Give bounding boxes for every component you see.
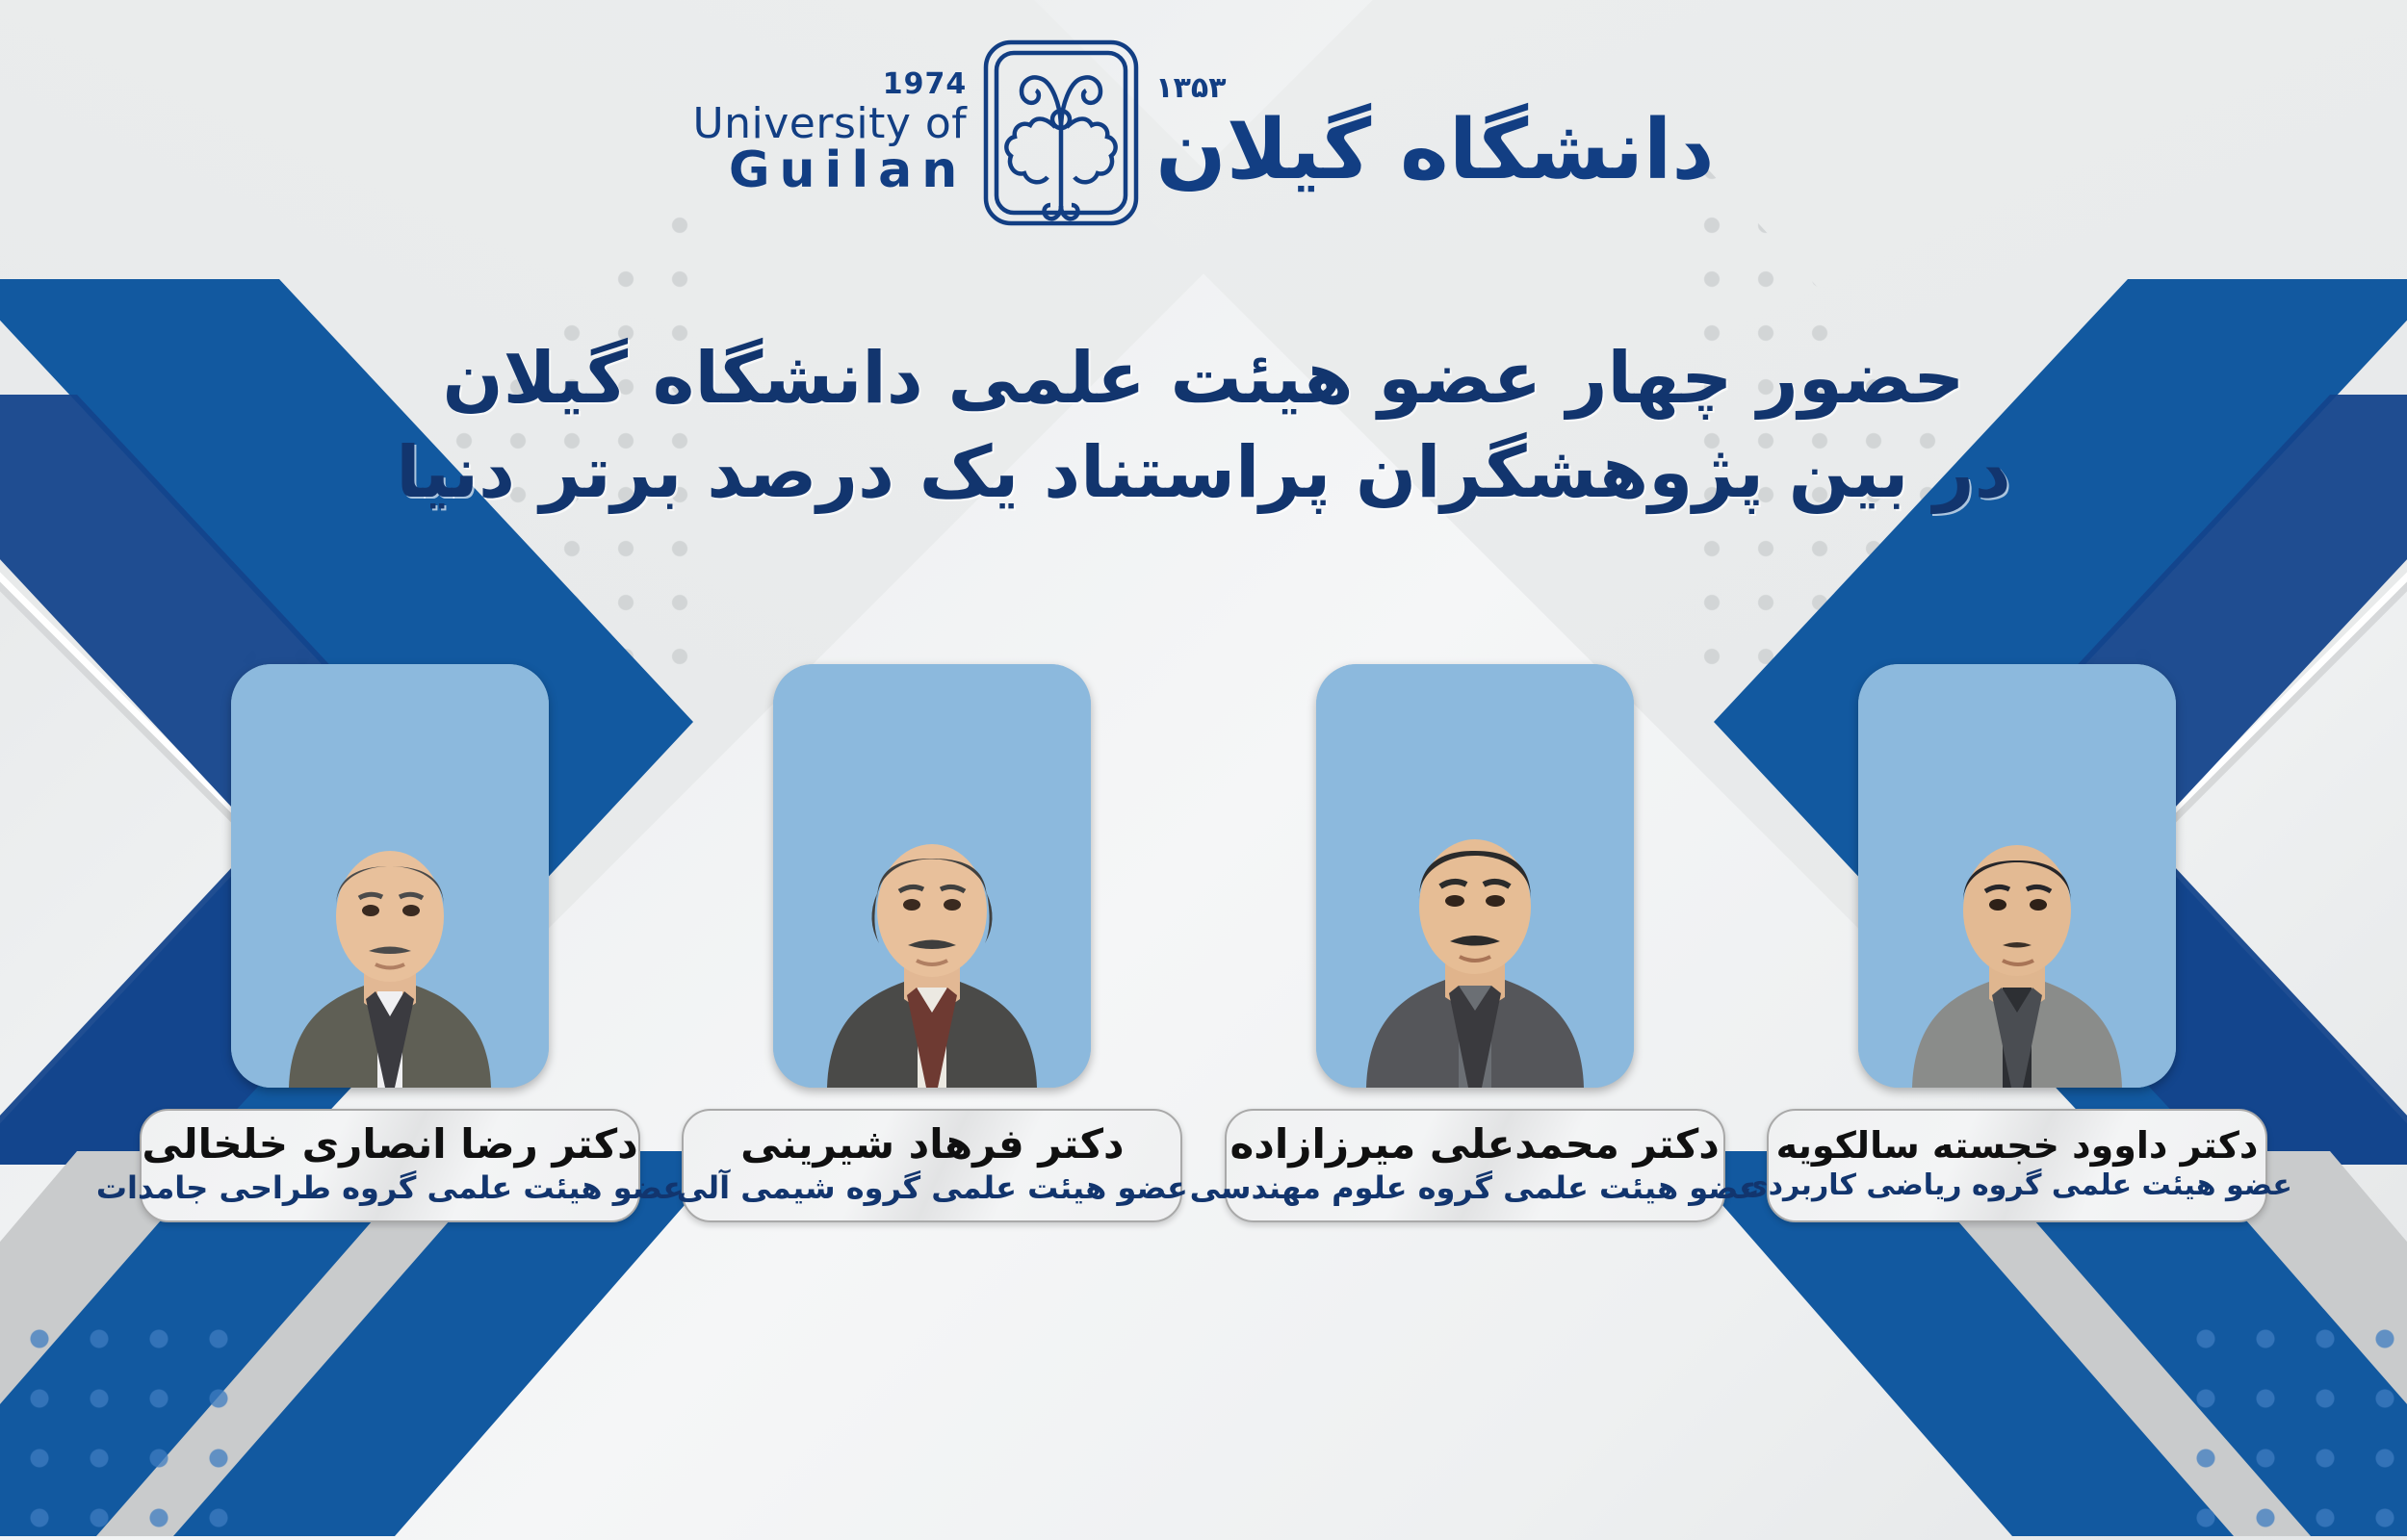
logo-line-university-of: University of <box>692 103 967 145</box>
researchers-row: دکتر رضا انصاری خلخالی عضو هیئت علمی گرو… <box>140 664 2267 1222</box>
researcher-card: دکتر رضا انصاری خلخالی عضو هیئت علمی گرو… <box>140 664 640 1222</box>
university-logo: 1974 University of Guilan <box>0 37 2407 229</box>
logo-english-text: 1974 University of Guilan <box>692 70 967 195</box>
headline: حضور چهار عضو هیئت علمی دانشگاه گیلان در… <box>385 332 2022 520</box>
headline-line-1: حضور چهار عضو هیئت علمی دانشگاه گیلان <box>385 332 2022 426</box>
headline-line-2: در بین پژوهشگران پراستناد یک درصد برتر د… <box>385 426 2022 521</box>
researcher-namecard: دکتر داوود خجسته سالکویه عضو هیئت علمی گ… <box>1767 1109 2267 1222</box>
researcher-card: دکتر داوود خجسته سالکویه عضو هیئت علمی گ… <box>1767 664 2267 1222</box>
researcher-card: دکتر محمدعلی میرزازاده عضو هیئت علمی گرو… <box>1225 664 1725 1222</box>
logo-year-solar: ۱۳۵۳ <box>1155 74 1714 103</box>
logo-name-persian: دانشگاه گیلان <box>1155 109 1714 192</box>
portrait-reza-ansari-khalkhali <box>231 664 549 1088</box>
researcher-name: دکتر داوود خجسته سالکویه <box>1776 1125 2259 1168</box>
researcher-card: دکتر فرهاد شیرینی عضو هیئت علمی گروه شیم… <box>682 664 1182 1222</box>
guilan-university-emblem-icon <box>980 37 1142 229</box>
dots-bottom-left <box>10 1309 231 1530</box>
logo-year-gregorian: 1974 <box>692 70 967 99</box>
researcher-department: عضو هیئت علمی گروه ریاضی کاربردی <box>1742 1169 2292 1203</box>
researcher-name: دکتر رضا انصاری خلخالی <box>142 1121 637 1168</box>
poster-canvas: 1974 University of Guilan <box>0 0 2407 1540</box>
researcher-department: عضو هیئت علمی گروه علوم مهندسی <box>1190 1170 1760 1206</box>
researcher-department: عضو هیئت علمی گروه شیمی آلی <box>677 1170 1188 1206</box>
portrait-mohammadali-mirzazadeh <box>1316 664 1634 1088</box>
portrait-davod-khojasteh-salkuyeh <box>1858 664 2176 1088</box>
researcher-name: دکتر محمدعلی میرزازاده <box>1230 1121 1720 1168</box>
logo-persian-text: ۱۳۵۳ دانشگاه گیلان <box>1155 74 1714 192</box>
researcher-namecard: دکتر فرهاد شیرینی عضو هیئت علمی گروه شیم… <box>682 1109 1182 1222</box>
researcher-name: دکتر فرهاد شیرینی <box>740 1121 1125 1168</box>
dots-bottom-right <box>2176 1309 2397 1530</box>
logo-line-guilan: Guilan <box>692 145 967 195</box>
researcher-namecard: دکتر رضا انصاری خلخالی عضو هیئت علمی گرو… <box>140 1109 640 1222</box>
researcher-namecard: دکتر محمدعلی میرزازاده عضو هیئت علمی گرو… <box>1225 1109 1725 1222</box>
portrait-farhad-shirini <box>773 664 1091 1088</box>
researcher-department: عضو هیئت علمی گروه طراحی جامدات <box>96 1170 684 1206</box>
